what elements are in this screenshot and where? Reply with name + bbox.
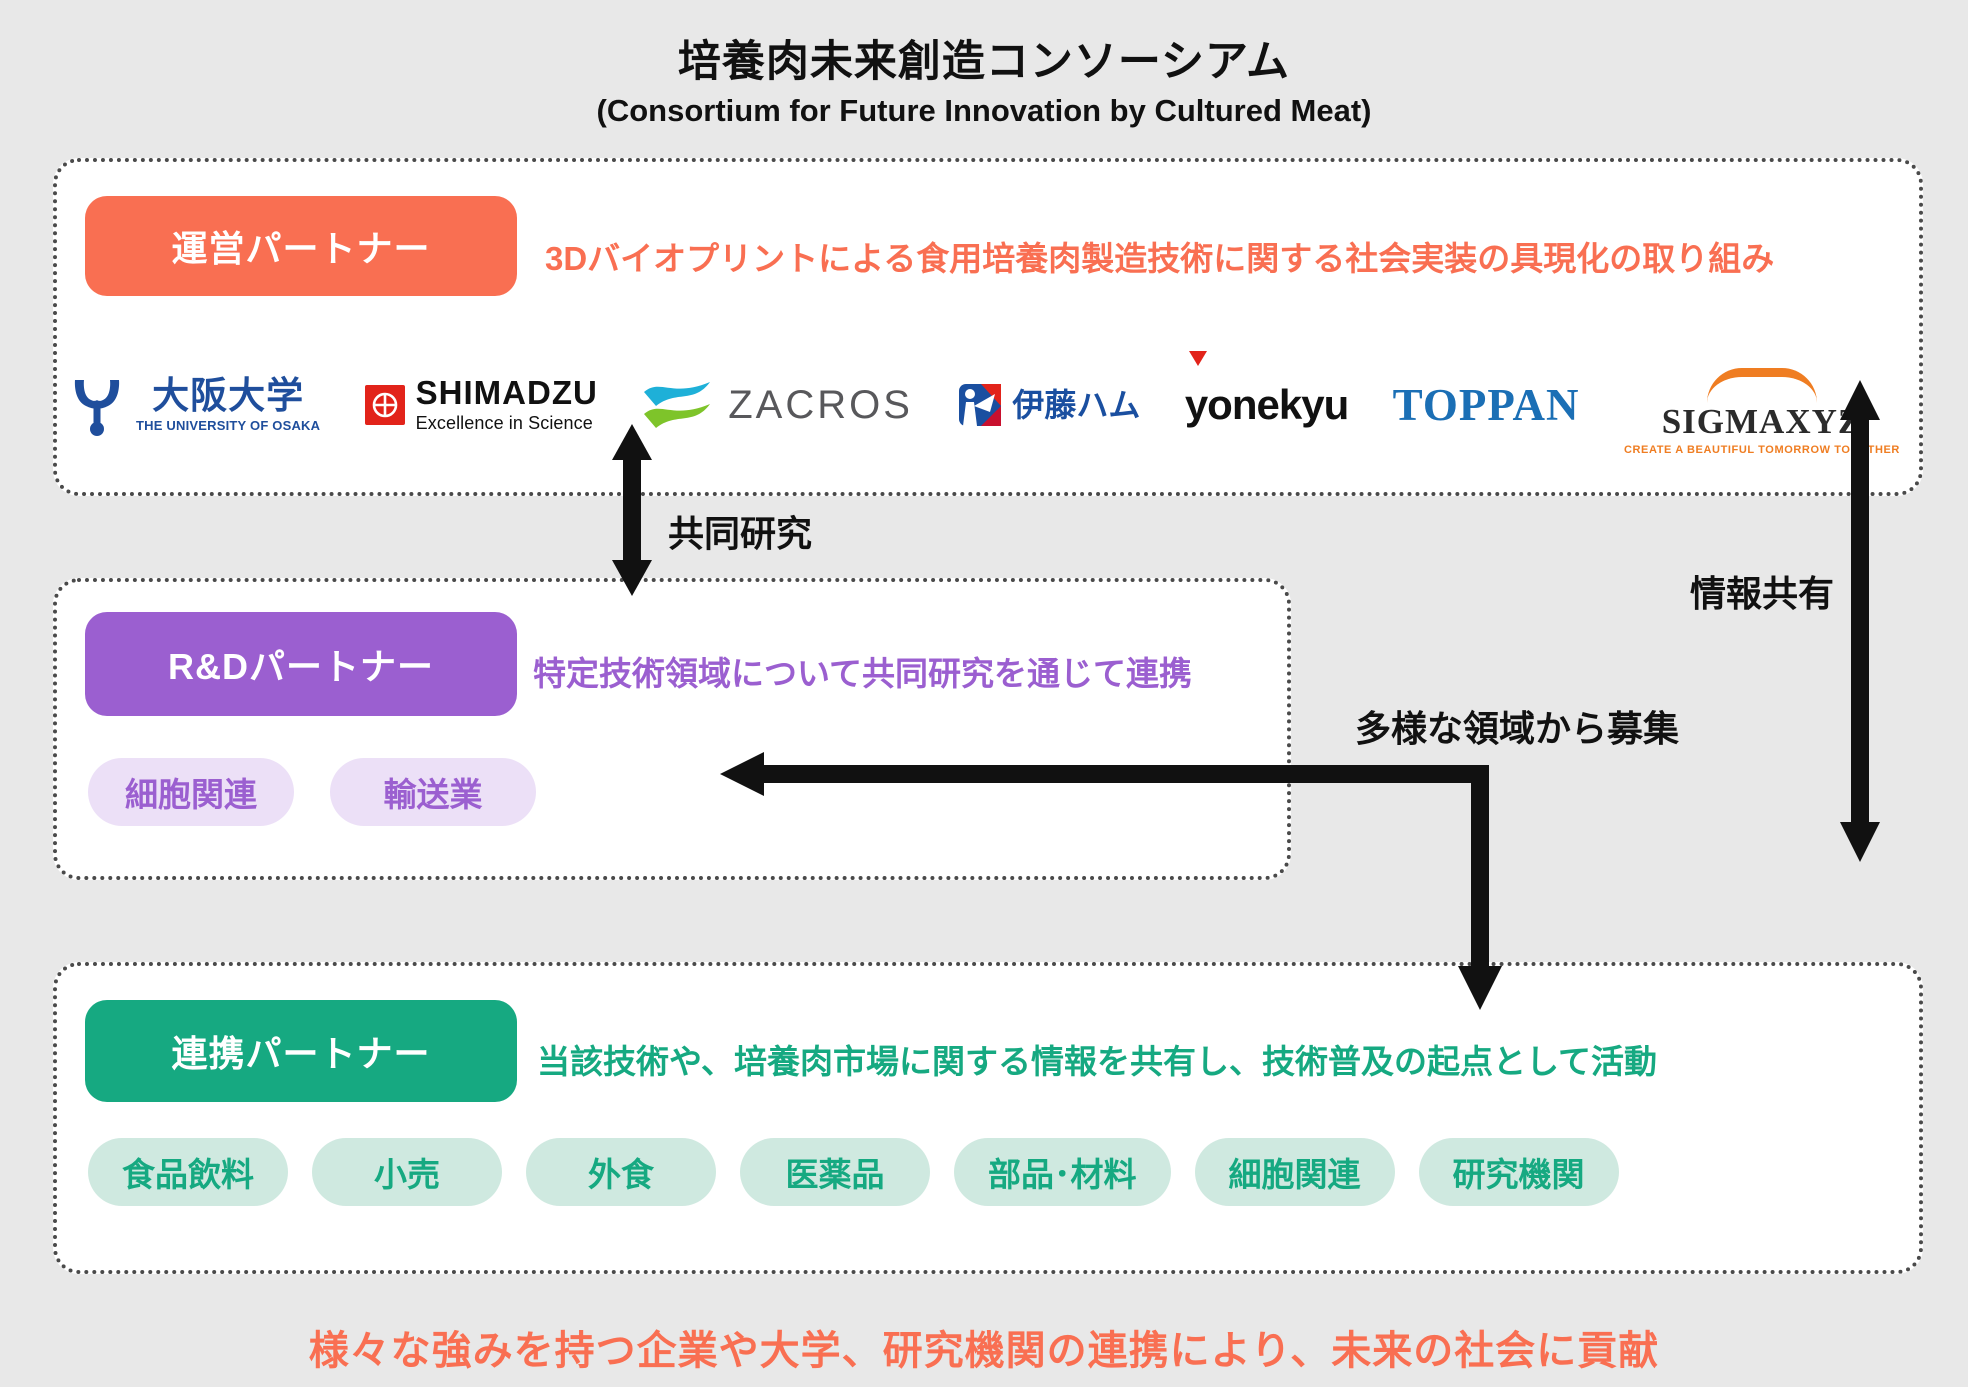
yonekyu-wordmark: yonekyu (1185, 384, 1348, 426)
collaboration-partner-tags: 食品飲料 小売 外食 医薬品 部品･材料 細胞関連 研究機関 (88, 1138, 1619, 1206)
rd-tag-cell-related[interactable]: 細胞関連 (88, 758, 294, 826)
shimadzu-tagline: Excellence in Science (416, 413, 598, 434)
logo-zacros: ZACROS (642, 355, 913, 455)
logo-toppan: TOPPAN (1393, 355, 1580, 455)
operating-partner-badge[interactable]: 運営パートナー (85, 196, 517, 296)
collab-tag-parts-materials[interactable]: 部品･材料 (954, 1138, 1171, 1206)
itoham-mark-icon (957, 382, 1003, 428)
rd-tag-transport[interactable]: 輸送業 (330, 758, 536, 826)
collab-tag-cell-related[interactable]: 細胞関連 (1195, 1138, 1395, 1206)
recruit-arrow-icon (720, 760, 1500, 1010)
collab-tag-pharmaceuticals[interactable]: 医薬品 (740, 1138, 930, 1206)
logo-shimadzu: SHIMADZU Excellence in Science (365, 355, 598, 455)
shimadzu-mark-icon (365, 385, 405, 425)
title-english: (Consortium for Future Innovation by Cul… (0, 93, 1968, 129)
joint-research-label: 共同研究 (668, 505, 812, 557)
collab-tag-food-beverage[interactable]: 食品飲料 (88, 1138, 288, 1206)
joint-research-arrow-icon (610, 424, 654, 596)
recruit-label: 多様な領域から募集 (1355, 700, 1679, 752)
zacros-wordmark: ZACROS (728, 385, 913, 425)
information-sharing-arrow-icon (1838, 380, 1882, 862)
logo-yonekyu: yonekyu (1185, 355, 1348, 455)
yonekyu-accent-icon (1189, 351, 1207, 366)
footer-message: 様々な強みを持つ企業や大学、研究機関の連携により、未来の社会に貢献 (0, 1318, 1968, 1376)
logo-osaka-university: 大阪大学 THE UNIVERSITY OF OSAKA (70, 355, 320, 455)
page-title: 培養肉未来創造コンソーシアム (Consortium for Future In… (0, 38, 1968, 129)
collaboration-partner-description: 当該技術や、培養肉市場に関する情報を共有し、技術普及の起点として活動 (537, 1035, 1657, 1083)
logo-itoham: 伊藤ハム (957, 355, 1140, 455)
sigmaxyz-wordmark: SIGMAXYZ (1662, 404, 1863, 439)
collab-tag-retail[interactable]: 小売 (312, 1138, 502, 1206)
collab-tag-food-service[interactable]: 外食 (526, 1138, 716, 1206)
rd-partner-badge[interactable]: R&Dパートナー (85, 612, 517, 716)
collaboration-partner-badge[interactable]: 連携パートナー (85, 1000, 517, 1102)
sigmaxyz-arc-icon (1707, 368, 1817, 403)
itoham-wordmark: 伊藤ハム (1012, 389, 1140, 421)
rd-partner-tags: 細胞関連 輸送業 (88, 758, 536, 826)
rd-partner-description: 特定技術領域について共同研究を通じて連携 (533, 647, 1192, 695)
osaka-university-mark-icon (70, 374, 124, 436)
shimadzu-wordmark: SHIMADZU (416, 376, 598, 409)
collab-tag-research-institute[interactable]: 研究機関 (1419, 1138, 1619, 1206)
osaka-university-name-en: THE UNIVERSITY OF OSAKA (136, 418, 320, 433)
information-sharing-label: 情報共有 (1690, 565, 1834, 617)
osaka-university-name-ja: 大阪大学 (152, 377, 304, 414)
toppan-wordmark: TOPPAN (1393, 383, 1580, 428)
operating-partner-logos: 大阪大学 THE UNIVERSITY OF OSAKA SHIMADZU Ex… (70, 352, 1900, 458)
title-japanese: 培養肉未来創造コンソーシアム (0, 38, 1968, 87)
operating-partner-description: 3Dバイオプリントによる食用培養肉製造技術に関する社会実装の具現化の取り組み (545, 232, 1774, 280)
